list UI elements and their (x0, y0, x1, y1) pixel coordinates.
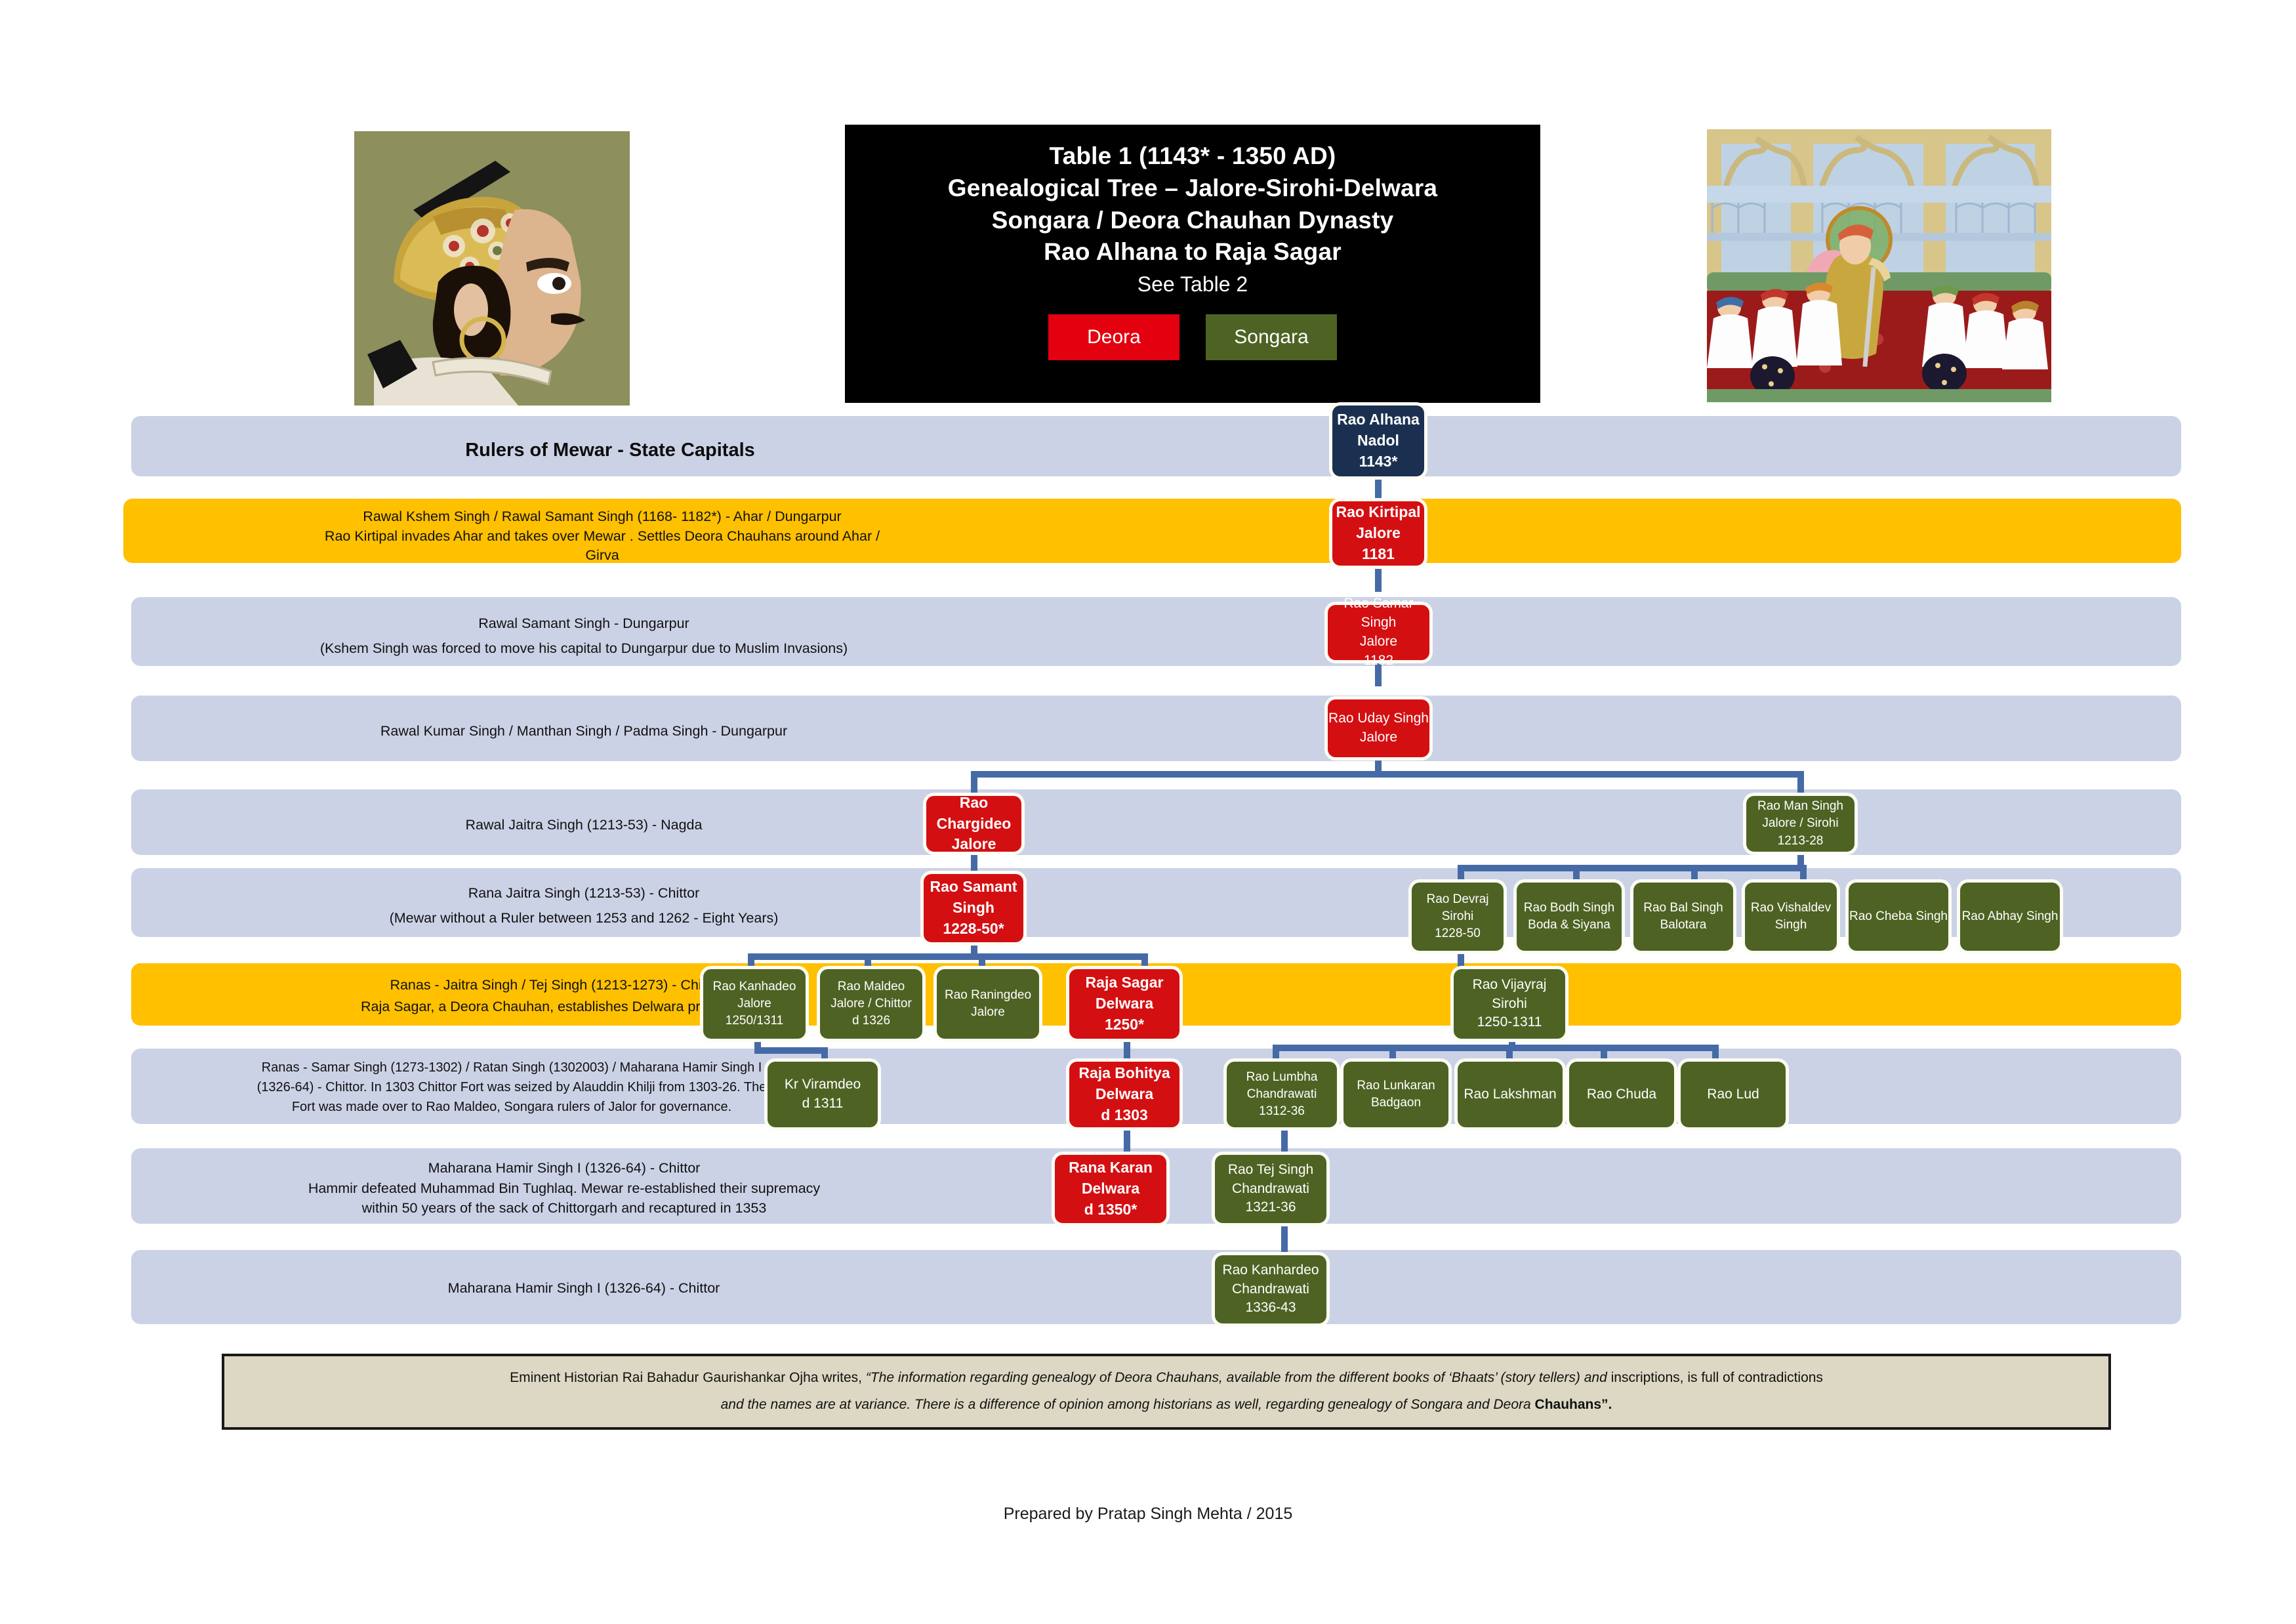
node-line: 1312-36 (1259, 1103, 1305, 1120)
title-panel: Table 1 (1143* - 1350 AD) Genealogical T… (845, 125, 1540, 403)
node-rao-bodh-singh[interactable]: Rao Bodh Singh Boda & Siyana (1517, 883, 1622, 951)
connector-to-bal (1691, 865, 1698, 885)
connector-to-viramdeo (821, 1047, 828, 1063)
connector-lumbha-tej (1281, 1127, 1288, 1155)
band-line: Maharana Hamir Singh I (1326-64) - Chitt… (131, 1157, 997, 1179)
band-hamir-singh-chittor-2: Maharana Hamir Singh I (1326-64) - Chitt… (131, 1250, 2181, 1324)
node-kr-viramdeo[interactable]: Kr Viramdeo d 1311 (768, 1062, 878, 1127)
node-line: Delwara (1096, 993, 1153, 1014)
connector-kirtipal-samar (1375, 566, 1382, 592)
node-line: Singh (1775, 917, 1807, 934)
node-rao-chuda[interactable]: Rao Chuda (1569, 1062, 1674, 1127)
node-line: Chandrawati (1232, 1280, 1309, 1299)
node-line: Chargideo (937, 814, 1012, 835)
connector-to-vishaldev (1800, 865, 1807, 885)
node-line: Rao (960, 793, 988, 814)
node-rao-tej-singh[interactable]: Rao Tej Singh Chandrawati 1321-36 (1215, 1155, 1326, 1223)
band-line: Rana Jaitra Singh (1213-53) - Chittor (131, 883, 1036, 904)
node-rao-alhana[interactable]: Rao Alhana Nadol 1143* (1332, 406, 1424, 476)
connector-alhana-kirtipal (1375, 476, 1382, 501)
node-line: 1181 (1362, 544, 1395, 565)
node-rao-bal-singh[interactable]: Rao Bal Singh Balotara (1633, 883, 1733, 951)
node-rao-samant-singh[interactable]: Rao Samant Singh 1228-50* (924, 874, 1023, 942)
node-rao-kanhadeo[interactable]: Rao Kanhadeo Jalore 1250/1311 (703, 969, 806, 1039)
title-line-2: Genealogical Tree – Jalore-Sirohi-Delwar… (948, 173, 1437, 205)
node-line: Sirohi (1492, 995, 1527, 1014)
node-line: Rao Uday Singh (1328, 709, 1429, 728)
node-line: Rana Karan (1069, 1157, 1153, 1178)
node-line: Kr Viramdeo (785, 1075, 861, 1094)
node-line: Chandrawati (1247, 1086, 1317, 1103)
connector-to-lud (1712, 1045, 1719, 1063)
connector-to-lakshman (1506, 1045, 1513, 1063)
node-line: d 1350* (1084, 1199, 1138, 1220)
band-line: (Kshem Singh was forced to move his capi… (131, 638, 1036, 659)
node-raja-bohitya[interactable]: Raja Bohitya Delwara d 1303 (1069, 1062, 1179, 1127)
band-rawal-jaitra-nagda: Rawal Jaitra Singh (1213-53) - Nagda (131, 789, 2181, 855)
band-line: Hammir defeated Muhammad Bin Tughlaq. Me… (131, 1178, 997, 1199)
node-line: Rao Kanhardeo (1222, 1261, 1319, 1280)
node-rao-samar-singh[interactable]: Rao Samar Singh Jalore 1182 (1328, 605, 1429, 660)
band-rulers-of-mewar: Rulers of Mewar - State Capitals (131, 416, 2181, 476)
node-line: Singh (953, 898, 994, 919)
legend: Deora Songara (1048, 314, 1337, 360)
node-rao-lumbha[interactable]: Rao Lumbha Chandrawati 1312-36 (1227, 1062, 1337, 1127)
royal-darbar-court-scene-image (1707, 129, 2051, 402)
node-line: Rao Lumbha (1246, 1069, 1318, 1086)
node-line: 1213-28 (1778, 833, 1824, 850)
connector-devraj-vijayraj (1458, 947, 1464, 971)
node-line: Balotara (1660, 917, 1707, 934)
node-line: Jalore (952, 834, 996, 855)
connector-to-man-singh (1797, 771, 1804, 797)
node-line: Jalore (737, 995, 771, 1012)
node-line: Boda & Siyana (1528, 917, 1610, 934)
node-line: Rao Man Singh (1757, 798, 1843, 815)
title-line-1: Table 1 (1143* - 1350 AD) (1050, 140, 1336, 173)
node-rao-vishaldev[interactable]: Rao Vishaldev Singh (1745, 883, 1837, 951)
band-line: Girva (123, 545, 1081, 566)
node-line: d 1303 (1101, 1105, 1148, 1126)
legend-chip-songara: Songara (1206, 314, 1337, 360)
node-rao-lud[interactable]: Rao Lud (1681, 1062, 1786, 1127)
connector-samant-bus (748, 953, 1148, 960)
node-line: 1250* (1105, 1014, 1144, 1035)
band-line: Rawal Kshem Singh / Rawal Samant Singh (… (123, 506, 1081, 528)
node-line: Rao Alhana (1337, 409, 1420, 430)
node-line: Rao Devraj (1426, 891, 1488, 908)
band-line: Maharana Hamir Singh I (1326-64) - Chitt… (131, 1278, 1036, 1299)
node-line: Rao Tej Singh (1228, 1161, 1313, 1180)
node-line: Rao Lakshman (1464, 1085, 1556, 1104)
node-line: Rao Samar Singh (1328, 594, 1429, 633)
node-line: Rao Chuda (1587, 1085, 1656, 1104)
node-line: 1143* (1359, 451, 1398, 472)
node-line: Rao Maldeo (838, 978, 905, 995)
legend-chip-deora: Deora (1048, 314, 1179, 360)
node-rao-kirtipal[interactable]: Rao Kirtipal Jalore 1181 (1332, 501, 1424, 566)
node-line: 1321-36 (1245, 1198, 1296, 1217)
connector-vijayraj-bus (1273, 1045, 1719, 1051)
node-line: Nadol (1357, 430, 1399, 451)
node-line: Rao Lud (1707, 1085, 1759, 1104)
node-line: Jalore (1360, 728, 1397, 747)
node-rao-uday-singh[interactable]: Rao Uday Singh Jalore (1328, 699, 1429, 757)
node-rao-man-singh[interactable]: Rao Man Singh Jalore / Sirohi 1213-28 (1746, 796, 1855, 852)
node-rao-lakshman[interactable]: Rao Lakshman (1458, 1062, 1563, 1127)
node-line: 1250/1311 (726, 1012, 783, 1030)
node-line: Chandrawati (1232, 1180, 1309, 1199)
node-rao-devraj[interactable]: Rao Devraj Sirohi 1228-50 (1412, 883, 1504, 951)
connector-to-lunkaran (1389, 1045, 1396, 1063)
historian-quote-box: Eminent Historian Rai Bahadur Gaurishank… (222, 1354, 2111, 1430)
band-line: (Mewar without a Ruler between 1253 and … (131, 907, 1036, 929)
node-rao-lunkaran[interactable]: Rao Lunkaran Badgaon (1343, 1062, 1448, 1127)
credit-line: Prepared by Pratap Singh Mehta / 2015 (0, 1505, 2296, 1524)
connector-kanhadeo-bus (754, 1047, 828, 1054)
node-raja-sagar[interactable]: Raja Sagar Delwara 1250* (1069, 969, 1179, 1039)
node-rana-karan[interactable]: Rana Karan Delwara d 1350* (1055, 1155, 1166, 1223)
node-line: Jalore (1360, 633, 1397, 652)
node-line: Rao Kanhadeo (713, 978, 796, 995)
node-rao-vijayraj[interactable]: Rao Vijayraj Sirohi 1250-1311 (1454, 969, 1565, 1039)
node-line: Jalore / Sirohi (1762, 815, 1838, 832)
connector-uday-bus (971, 771, 1804, 778)
connector-tej-kanhardeo (1281, 1224, 1288, 1255)
quote-line-1: Eminent Historian Rai Bahadur Gaurishank… (498, 1365, 1835, 1392)
node-line: 1228-50* (943, 919, 1004, 940)
node-line: Delwara (1096, 1084, 1153, 1105)
connector-to-chuda (1601, 1045, 1607, 1063)
node-line: Badgaon (1371, 1094, 1421, 1112)
band-line: Rawal Kumar Singh / Manthan Singh / Padm… (131, 720, 1036, 742)
title-line-3: Songara / Deora Chauhan Dynasty (992, 205, 1394, 237)
node-line: Rao Kirtipal (1336, 502, 1420, 523)
node-line: Rao Abhay Singh (1962, 908, 2059, 925)
band-line: Rulers of Mewar - State Capitals (131, 436, 1089, 465)
node-rao-kanhardeo[interactable]: Rao Kanhardeo Chandrawati 1336-43 (1215, 1255, 1326, 1323)
node-line: Rao Bal Singh (1643, 900, 1723, 917)
band-line: Rawal Samant Singh - Dungarpur (131, 613, 1036, 635)
node-line: Rao Cheba Singh (1849, 908, 1948, 925)
connector-bohitya-karan (1124, 1127, 1130, 1155)
quote-part-2: inscriptions, is full of contradictions (1611, 1370, 1823, 1385)
node-line: d 1326 (852, 1012, 890, 1030)
node-line: Rao Lunkaran (1357, 1077, 1435, 1094)
band-kshem-singh: Rawal Kshem Singh / Rawal Samant Singh (… (123, 499, 2181, 563)
connector-to-lumbha (1273, 1045, 1279, 1063)
connector-sagar-bohitya (1124, 1038, 1130, 1064)
quote-part-3: and the names are at variance. There is … (721, 1397, 1531, 1412)
connector-man-singh-bus (1458, 865, 1804, 871)
quote-part-1: “The information regarding genealogy of … (866, 1370, 1607, 1385)
node-line: Rao Raningdeo (945, 987, 1031, 1004)
node-line: Rao Samant (930, 877, 1017, 898)
node-line: Rao Vijayraj (1473, 976, 1547, 995)
node-rao-maldeo[interactable]: Rao Maldeo Jalore / Chittor d 1326 (820, 969, 922, 1039)
node-line: Jalore (1356, 523, 1401, 544)
title-line-4: Rao Alhana to Raja Sagar (1044, 236, 1342, 268)
node-rao-chargideo[interactable]: Rao Chargideo Jalore (926, 796, 1021, 852)
node-line: d 1311 (802, 1094, 844, 1114)
quote-intro: Eminent Historian Rai Bahadur Gaurishank… (510, 1370, 862, 1385)
see-table-2-note: See Table 2 (1138, 268, 1248, 300)
node-line: 1182 (1364, 652, 1393, 671)
node-rao-abhay-singh[interactable]: Rao Abhay Singh (1960, 883, 2060, 951)
band-line: within 50 years of the sack of Chittorga… (131, 1197, 997, 1219)
band-line: Rawal Jaitra Singh (1213-53) - Nagda (131, 814, 1036, 836)
node-line: Raja Bohitya (1078, 1063, 1170, 1084)
band-samant-singh-dungarpur: Rawal Samant Singh - Dungarpur (Kshem Si… (131, 597, 2181, 666)
legend-label-songara: Songara (1234, 326, 1308, 348)
rajput-ruler-portrait-image (354, 131, 630, 406)
node-rao-raningdeo[interactable]: Rao Raningdeo Jalore (937, 969, 1039, 1039)
connector-to-devraj (1458, 865, 1464, 885)
quote-line-2: and the names are at variance. There is … (709, 1392, 1624, 1419)
node-line: Sirohi (1442, 908, 1474, 925)
node-rao-cheba-singh[interactable]: Rao Cheba Singh (1849, 883, 1948, 951)
node-line: Raja Sagar (1086, 972, 1164, 993)
node-line: Delwara (1082, 1178, 1139, 1199)
legend-label-deora: Deora (1087, 326, 1141, 348)
quote-part-4: Chauhans”. (1535, 1397, 1612, 1412)
node-line: 1336-43 (1245, 1299, 1296, 1318)
connector-to-bodh (1573, 865, 1580, 885)
band-kumar-singh-dungarpur: Rawal Kumar Singh / Manthan Singh / Padm… (131, 696, 2181, 761)
node-line: Jalore (971, 1004, 1005, 1021)
node-line: Jalore / Chittor (830, 995, 912, 1012)
node-line: Rao Vishaldev (1751, 900, 1831, 917)
node-line: Rao Bodh Singh (1524, 900, 1614, 917)
node-line: 1250-1311 (1477, 1013, 1542, 1032)
node-line: 1228-50 (1435, 925, 1481, 942)
